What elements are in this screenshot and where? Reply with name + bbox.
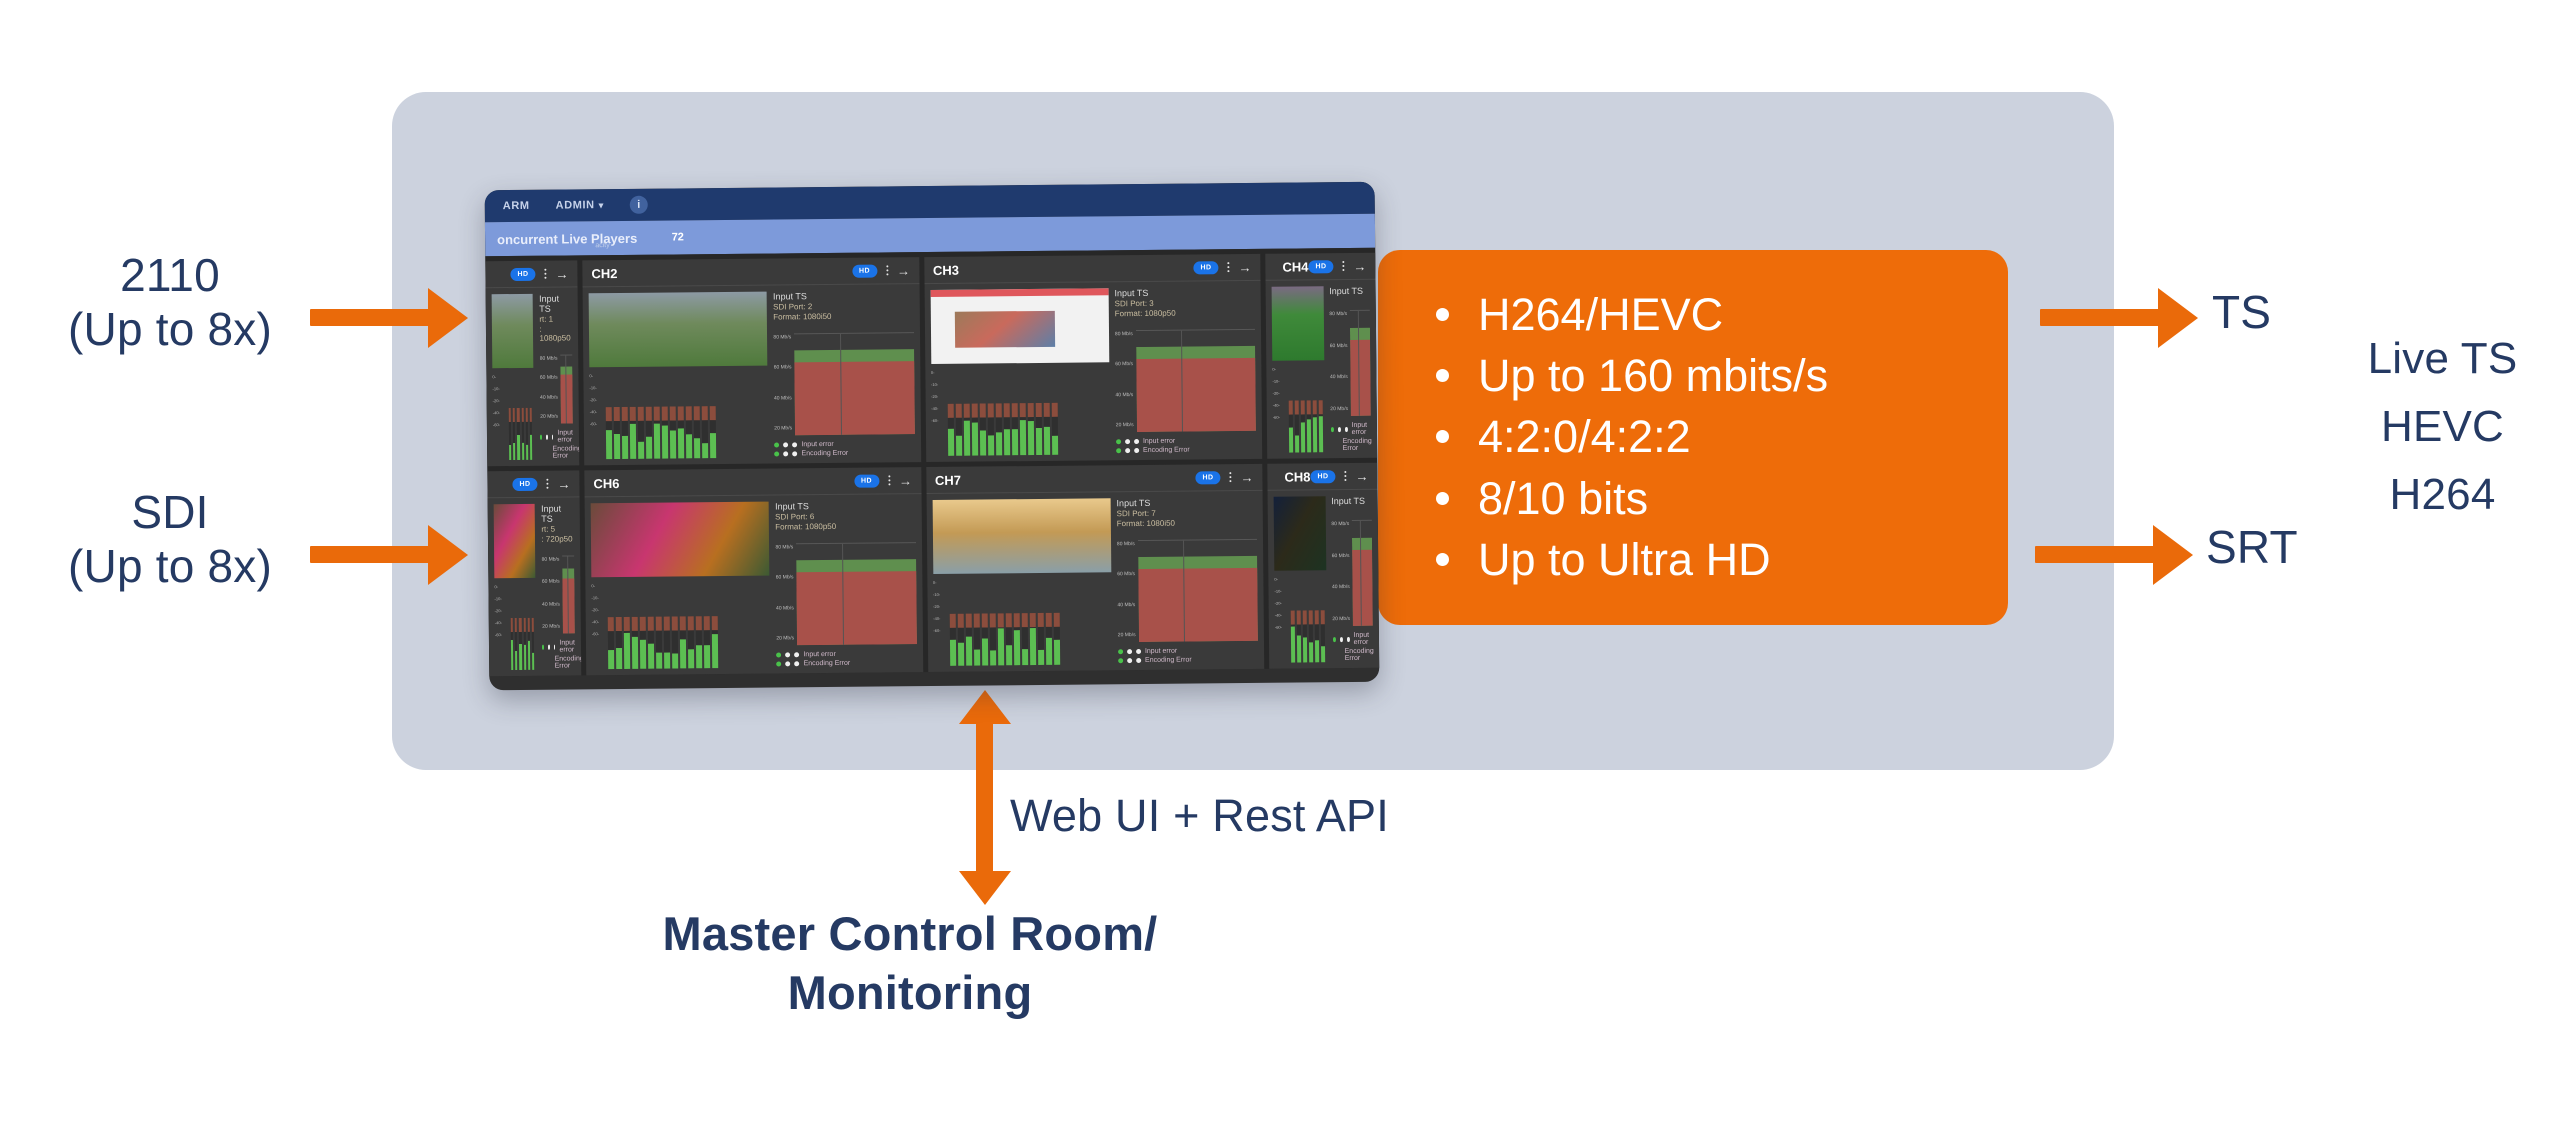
axis-tick-label: 60 Mb/s <box>1117 572 1135 577</box>
format-label: : 1080p50 <box>539 324 572 342</box>
audio-meter-bar <box>704 616 710 668</box>
bitrate-plot-area <box>562 555 575 633</box>
input-type-label: Input TS <box>1114 287 1254 298</box>
status-row: Input error <box>542 639 575 653</box>
bitrate-plot-area <box>796 542 916 645</box>
audio-meter-bar <box>688 616 694 668</box>
status-row: Encoding Error <box>1331 438 1372 452</box>
audio-meter-bar <box>670 406 676 458</box>
stats-column: Input TSrt: 1: 1080p5080 Mb/s60 Mb/s40 M… <box>539 293 573 459</box>
status-label: Encoding Error <box>1145 657 1192 664</box>
input-type-label: Input TS <box>541 503 574 523</box>
axis-tick-label: 40 Mb/s <box>1117 603 1135 608</box>
axis-tick-label: 60 Mb/s <box>776 576 794 581</box>
status-dot <box>774 442 779 447</box>
audio-scale-tick: -40- <box>931 407 938 411</box>
bitrate-chart: 80 Mb/s60 Mb/s40 Mb/s20 Mb/s <box>540 354 573 423</box>
feature-item: Up to Ultra HD <box>1432 529 1968 590</box>
bitrate-y-axis: 80 Mb/s60 Mb/s40 Mb/s20 Mb/s <box>1329 310 1348 416</box>
kebab-menu-icon[interactable] <box>546 479 548 489</box>
audio-meter-bar <box>532 618 535 670</box>
banner-count: 72 <box>672 231 684 243</box>
hd-badge[interactable]: HD <box>852 264 877 277</box>
status-dot <box>1118 649 1123 654</box>
axis-tick-label: 20 Mb/s <box>1116 423 1134 428</box>
input-label-2110-line2: (Up to 8x) <box>10 302 330 356</box>
chevron-down-icon: ▾ <box>599 200 604 210</box>
stats-column: Input TS80 Mb/s60 Mb/s40 Mb/s20 Mb/sInpu… <box>1329 286 1371 452</box>
audio-meter-bar <box>1051 403 1057 455</box>
video-thumbnail[interactable] <box>932 498 1111 574</box>
hd-badge[interactable]: HD <box>1308 260 1333 273</box>
channel-card[interactable]: HD→0--10--20--40--60-Input TSrt: 5: 720p… <box>487 470 581 676</box>
input-label-sdi-line1: SDI <box>131 486 208 538</box>
axis-tick-label: 40 Mb/s <box>1115 393 1133 398</box>
status-dot <box>1347 637 1350 642</box>
channel-card-body: 0--10--20--40--60-Input TSrt: 5: 720p508… <box>488 497 582 676</box>
audio-scale: 0--10--20--40--60- <box>931 371 939 423</box>
status-row: Input error <box>1116 437 1256 445</box>
hd-badge[interactable]: HD <box>1310 470 1335 483</box>
axis-tick-label: 60 Mb/s <box>1330 344 1348 349</box>
open-channel-arrow-icon[interactable]: → <box>1240 470 1253 483</box>
input-type-label: Input TS <box>1331 496 1372 506</box>
audio-meter-bar <box>1320 610 1324 662</box>
audio-meter-bar <box>1045 613 1051 665</box>
audio-level-meters: 0--10--20--40--60- <box>933 575 1112 666</box>
status-dot <box>1337 427 1340 432</box>
management-arrow-icon <box>955 690 1015 905</box>
audio-scale-tick: -20- <box>1275 602 1282 606</box>
channel-card[interactable]: CH2HD→0--10--20--40--60-Input TSSDI Port… <box>582 257 920 465</box>
axis-tick-label: 40 Mb/s <box>1332 585 1350 590</box>
feature-box: H264/HEVC Up to 160 mbits/s 4:2:0/4:2:2 … <box>1378 250 2008 625</box>
audio-meter-bar <box>630 407 636 459</box>
channel-card-actions: HD→ <box>1195 470 1253 484</box>
input-label-2110: 2110 (Up to 8x) <box>10 248 330 357</box>
audio-scale: 0--10--20--40--60- <box>494 585 502 637</box>
audio-meter-bar <box>1053 613 1059 665</box>
audio-meter-bar <box>606 407 612 459</box>
kebab-menu-icon[interactable] <box>1227 262 1229 272</box>
axis-tick-label: 80 Mb/s <box>1117 542 1135 547</box>
output-label-ts: TS <box>2212 285 2271 339</box>
audio-meter-bar <box>513 408 516 460</box>
kebab-menu-icon[interactable] <box>1344 471 1346 481</box>
bitrate-plot-area <box>794 332 914 435</box>
audio-meter-bar <box>664 617 670 669</box>
open-channel-arrow-icon[interactable]: → <box>557 477 570 490</box>
audio-level-meters: 0--10--20--40--60- <box>494 581 536 670</box>
audio-meter-bar <box>947 404 953 456</box>
stats-column: Input TSSDI Port: 2Format: 1080i5080 Mb/… <box>773 290 915 457</box>
audio-scale-tick: -40- <box>495 621 502 625</box>
status-label: Input error <box>1145 648 1177 655</box>
preview-column: 0--10--20--40--60- <box>589 292 769 460</box>
input-type-label: Input TS <box>775 500 915 511</box>
stream-metadata: Input TSSDI Port: 3Format: 1080p50 <box>1114 287 1254 318</box>
audio-meter-bar <box>965 614 971 666</box>
audio-meter-bar <box>957 614 963 666</box>
management-link-label: Web UI + Rest API <box>1010 790 1389 842</box>
audio-level-meters: 0--10--20--40--60- <box>591 579 770 670</box>
audio-meter-bar <box>523 618 526 670</box>
axis-tick-label: 40 Mb/s <box>1330 375 1348 380</box>
hd-badge[interactable]: HD <box>510 267 535 280</box>
channel-card[interactable]: HD→0--10--20--40--60-Input TSrt: 1: 1080… <box>485 260 579 466</box>
axis-tick-label: 20 Mb/s <box>542 625 560 630</box>
open-channel-arrow-icon[interactable]: → <box>899 474 912 487</box>
status-dot <box>540 434 542 439</box>
audio-scale-tick: 0- <box>492 375 499 379</box>
channel-card-body: 0--10--20--40--60-Input TSSDI Port: 7For… <box>926 491 1264 672</box>
input-type-label: Input TS <box>1116 497 1256 508</box>
axis-tick-label: 40 Mb/s <box>540 395 558 400</box>
audio-meter-bar <box>1003 403 1009 455</box>
audio-scale-tick: 0- <box>933 581 940 585</box>
open-channel-arrow-icon[interactable]: → <box>1238 260 1251 273</box>
axis-tick-label: 80 Mb/s <box>773 335 791 340</box>
status-label: Encoding Error <box>1345 648 1374 662</box>
audio-meter-bar <box>526 408 529 460</box>
management-endpoint-label: Master Control Room/ Monitoring <box>600 905 1220 1023</box>
axis-tick-label: 60 Mb/s <box>774 366 792 371</box>
status-dot <box>1339 637 1342 642</box>
output-summary-line-1: Live TS <box>2330 325 2555 393</box>
audio-meter-bar <box>1295 400 1299 452</box>
status-row: Encoding Error <box>1118 656 1258 664</box>
channel-title: CH7 <box>935 472 961 487</box>
audio-meter-bar <box>662 407 668 459</box>
bitrate-y-axis: 80 Mb/s60 Mb/s40 Mb/s20 Mb/s <box>1331 520 1350 626</box>
audio-scale-tick: -10- <box>1274 590 1281 594</box>
audio-scale-tick: 0- <box>1272 368 1279 372</box>
stats-column: Input TSSDI Port: 6Format: 1080p5080 Mb/… <box>775 500 917 667</box>
audio-level-meters: 0--10--20--40--60- <box>589 369 768 460</box>
bitrate-chart: 80 Mb/s60 Mb/s40 Mb/s20 Mb/s <box>1331 520 1372 626</box>
status-indicators: Input errorEncoding Error <box>540 425 573 459</box>
kebab-menu-icon[interactable] <box>886 265 888 275</box>
status-dot <box>1134 439 1139 444</box>
status-indicators: Input errorEncoding Error <box>1332 628 1373 662</box>
status-dot <box>1136 649 1141 654</box>
axis-tick-label: 80 Mb/s <box>1115 332 1133 337</box>
nav-item-alarm[interactable]: ARM <box>503 200 530 212</box>
channel-title: CH4 <box>1282 259 1308 274</box>
audio-level-meters: 0--10--20--40--60- <box>492 371 534 460</box>
audio-meter-bar <box>694 406 700 458</box>
channel-card[interactable]: CH3HD→0--10--20--40--60-Input TSSDI Port… <box>924 254 1262 462</box>
audio-meter-bar <box>1021 613 1027 665</box>
audio-meter-bar <box>616 617 622 669</box>
bitrate-plot-area <box>1352 520 1373 626</box>
encoder-app-screenshot: ARM ADMIN▾ i oncurrent Live Players acit… <box>485 182 1380 691</box>
bitrate-y-axis: 80 Mb/s60 Mb/s40 Mb/s20 Mb/s <box>1115 330 1134 432</box>
feature-list: H264/HEVC Up to 160 mbits/s 4:2:0/4:2:2 … <box>1432 284 1968 590</box>
status-row: Input error <box>776 650 916 658</box>
hd-badge[interactable]: HD <box>512 477 537 490</box>
audio-scale-tick: 0- <box>494 585 501 589</box>
audio-scale-tick: 0- <box>1274 578 1281 582</box>
status-indicators: Input errorEncoding Error <box>1118 643 1258 664</box>
channel-card[interactable]: CH8HD→0--10--20--40--60-Input TS80 Mb/s6… <box>1267 463 1379 669</box>
video-thumbnail[interactable] <box>1274 496 1326 570</box>
axis-tick-label: 20 Mb/s <box>1332 617 1350 622</box>
audio-level-meters: 0--10--20--40--60- <box>931 365 1110 456</box>
channel-card-actions: HD→ <box>852 264 910 278</box>
axis-tick-label: 20 Mb/s <box>1118 633 1136 638</box>
audio-meter-bar <box>971 404 977 456</box>
channel-card[interactable]: CH4HD→0--10--20--40--60-Input TS80 Mb/s6… <box>1265 253 1377 459</box>
open-channel-arrow-icon[interactable]: → <box>897 264 910 277</box>
sdi-port-label: SDI Port: 6 <box>775 511 915 521</box>
audio-level-meters: 0--10--20--40--60- <box>1274 573 1326 662</box>
info-icon[interactable]: i <box>630 196 648 214</box>
audio-meter-bar <box>710 406 716 458</box>
audio-scale-tick: -40- <box>493 411 500 415</box>
status-dot <box>552 434 554 439</box>
input-label-2110-line1: 2110 <box>120 249 220 301</box>
management-endpoint-line2: Monitoring <box>600 964 1220 1023</box>
channel-card-body: 0--10--20--40--60-Input TS80 Mb/s60 Mb/s… <box>1266 280 1378 459</box>
feature-item: 4:2:0/4:2:2 <box>1432 406 1968 467</box>
channel-card-actions: HD→ <box>1193 260 1251 274</box>
feature-item: H264/HEVC <box>1432 284 1968 345</box>
audio-meter-bar <box>646 407 652 459</box>
audio-scale: 0--10--20--40--60- <box>492 375 500 427</box>
audio-meter-bar <box>686 406 692 458</box>
audio-scale-tick: 0- <box>931 371 938 375</box>
audio-scale-tick: -40- <box>590 410 597 414</box>
audio-scale: 0--10--20--40--60- <box>591 584 599 636</box>
channel-card-body: 0--10--20--40--60-Input TS80 Mb/s60 Mb/s… <box>1268 490 1380 669</box>
status-label: Input error <box>803 651 835 658</box>
input-label-sdi: SDI (Up to 8x) <box>10 485 330 594</box>
stats-column: Input TSrt: 5: 720p5080 Mb/s60 Mb/s40 Mb… <box>541 503 575 669</box>
audio-scale-tick: -20- <box>590 398 597 402</box>
preview-column: 0--10--20--40--60- <box>932 498 1112 666</box>
status-dot <box>1344 427 1347 432</box>
audio-scale-tick: 0- <box>589 374 596 378</box>
status-row: Input error <box>1330 422 1371 436</box>
axis-tick-label: 80 Mb/s <box>540 357 558 362</box>
status-row: Encoding Error <box>1333 648 1374 662</box>
axis-tick-label: 40 Mb/s <box>774 396 792 401</box>
audio-scale-tick: -60- <box>495 633 502 637</box>
status-dot <box>1118 658 1123 663</box>
channel-card-actions: HD→ <box>512 477 570 491</box>
axis-tick-label: 60 Mb/s <box>1115 362 1133 367</box>
video-thumbnail[interactable] <box>494 504 536 578</box>
audio-meter-bar <box>949 614 955 666</box>
hd-badge[interactable]: HD <box>854 474 879 487</box>
audio-level-meters: 0--10--20--40--60- <box>1272 363 1324 452</box>
status-label: Encoding Error <box>1343 438 1372 452</box>
status-dot <box>1332 637 1335 642</box>
audio-meter-bar <box>638 407 644 459</box>
channel-card-actions: HD→ <box>510 267 568 281</box>
video-thumbnail[interactable] <box>1272 286 1324 360</box>
axis-tick-label: 40 Mb/s <box>542 602 560 607</box>
axis-tick-label: 40 Mb/s <box>776 606 794 611</box>
hd-badge[interactable]: HD <box>1195 471 1220 484</box>
channel-card-actions: HD→ <box>854 474 912 488</box>
status-dot <box>1125 448 1130 453</box>
channel-card-body: 0--10--20--40--60-Input TSSDI Port: 3For… <box>924 281 1262 462</box>
status-row: Input error <box>1118 647 1258 655</box>
audio-meter-bar <box>702 406 708 458</box>
channel-card-actions: HD→ <box>1308 259 1366 273</box>
audio-meter-bar <box>712 616 718 668</box>
preview-column: 0--10--20--40--60- <box>492 294 535 460</box>
audio-scale-tick: -10- <box>933 593 940 597</box>
audio-scale-tick: -40- <box>1275 614 1282 618</box>
audio-meter-bar <box>672 616 678 668</box>
channel-title: CH6 <box>593 476 619 491</box>
status-dot <box>554 644 556 649</box>
audio-scale-tick: 0- <box>591 584 598 588</box>
bitrate-chart: 80 Mb/s60 Mb/s40 Mb/s20 Mb/s <box>1329 310 1370 416</box>
audio-meter-bar <box>1019 403 1025 455</box>
sdi-port-label: rt: 5 <box>541 524 574 533</box>
status-label: Input error <box>1143 438 1175 445</box>
status-label: Input error <box>1353 632 1373 646</box>
audio-scale-tick: -20- <box>1273 392 1280 396</box>
output-summary-line-2: HEVC <box>2330 393 2555 461</box>
preview-column: 0--10--20--40--60- <box>930 288 1110 456</box>
status-dot <box>776 652 781 657</box>
hd-badge[interactable]: HD <box>1193 261 1218 274</box>
input-arrow-sdi-icon <box>310 525 470 585</box>
audio-scale-tick: -60- <box>590 422 597 426</box>
audio-meter-bar <box>997 613 1003 665</box>
status-row: Input error <box>1332 632 1373 646</box>
audio-meter-bar <box>1303 610 1307 662</box>
audio-meter-bar <box>1306 400 1310 452</box>
banner-title: oncurrent Live Players <box>497 230 637 246</box>
video-thumbnail[interactable] <box>492 294 534 368</box>
status-dot <box>1116 448 1121 453</box>
status-label: Input error <box>1351 422 1371 436</box>
axis-tick-label: 60 Mb/s <box>542 580 560 585</box>
preview-column: 0--10--20--40--60- <box>591 502 771 670</box>
channel-title: CH2 <box>591 266 617 281</box>
channel-card-header: HD→ <box>485 260 577 288</box>
channel-card-header: CH2HD→ <box>582 257 919 287</box>
status-dot <box>1134 448 1139 453</box>
nav-item-admin[interactable]: ADMIN▾ <box>556 199 604 211</box>
channel-card-body: 0--10--20--40--60-Input TSrt: 1: 1080p50… <box>486 287 580 466</box>
audio-meter-bar <box>680 616 686 668</box>
audio-scale-tick: -10- <box>590 386 597 390</box>
audio-meter-bar <box>1297 610 1301 662</box>
stats-column: Input TSSDI Port: 3Format: 1080p5080 Mb/… <box>1114 287 1256 454</box>
channel-grid: HD→0--10--20--40--60-Input TSrt: 1: 1080… <box>485 248 1379 677</box>
sdi-port-label: rt: 1 <box>539 314 572 323</box>
format-label: Format: 1080i50 <box>1117 518 1257 528</box>
bitrate-plot-area <box>1136 329 1256 432</box>
audio-meter-bar <box>955 404 961 456</box>
preview-column: 0--10--20--40--60- <box>494 504 537 670</box>
video-thumbnail[interactable] <box>930 288 1109 364</box>
status-row: Input error <box>540 429 573 443</box>
open-channel-arrow-icon[interactable]: → <box>1353 259 1366 272</box>
audio-scale-tick: -10- <box>931 383 938 387</box>
video-thumbnail[interactable] <box>589 292 768 368</box>
feature-item: 8/10 bits <box>1432 468 1968 529</box>
bitrate-y-axis: 80 Mb/s60 Mb/s40 Mb/s20 Mb/s <box>540 355 558 424</box>
audio-meter-bar <box>1011 403 1017 455</box>
status-dot <box>1127 658 1132 663</box>
audio-meter-bar <box>1289 401 1293 453</box>
audio-meter-bar <box>622 407 628 459</box>
audio-meter-bar <box>696 616 702 668</box>
audio-meter-bar <box>979 403 985 455</box>
status-label: Encoding Error <box>802 450 849 457</box>
channel-card-header: CH8HD→ <box>1267 463 1377 491</box>
audio-meter-bar <box>509 408 512 460</box>
axis-tick-label: 80 Mb/s <box>1331 522 1349 527</box>
channel-card[interactable]: CH6HD→0--10--20--40--60-Input TSSDI Port… <box>584 467 922 675</box>
audio-scale-tick: -10- <box>592 596 599 600</box>
nav-item-admin-label: ADMIN <box>556 199 595 211</box>
audio-meter-bar <box>981 613 987 665</box>
kebab-menu-icon[interactable] <box>1229 472 1231 482</box>
status-row: Encoding Error <box>543 655 576 669</box>
status-dot <box>784 451 789 456</box>
kebab-menu-icon[interactable] <box>1342 261 1344 271</box>
stream-metadata: Input TS <box>1331 496 1372 508</box>
audio-scale-tick: -60- <box>592 632 599 636</box>
stream-metadata: Input TS <box>1329 286 1370 298</box>
audio-meter-bar <box>1037 613 1043 665</box>
axis-tick-label: 20 Mb/s <box>776 636 794 641</box>
audio-meter-bar <box>1312 400 1316 452</box>
stream-metadata: Input TSSDI Port: 2Format: 1080i50 <box>773 290 913 321</box>
audio-meter-bar <box>517 408 520 460</box>
stats-column: Input TS80 Mb/s60 Mb/s40 Mb/s20 Mb/sInpu… <box>1331 496 1373 662</box>
channel-card[interactable]: CH7HD→0--10--20--40--60-Input TSSDI Port… <box>926 464 1264 672</box>
status-indicators: Input errorEncoding Error <box>776 646 916 667</box>
status-dot <box>794 652 799 657</box>
video-thumbnail[interactable] <box>591 502 770 578</box>
kebab-menu-icon[interactable] <box>544 269 546 279</box>
channel-title: CH8 <box>1284 469 1310 484</box>
channel-card-body: 0--10--20--40--60-Input TSSDI Port: 6For… <box>585 494 923 675</box>
kebab-menu-icon[interactable] <box>888 475 890 485</box>
bitrate-y-axis: 80 Mb/s60 Mb/s40 Mb/s20 Mb/s <box>775 543 794 645</box>
status-dot <box>783 442 788 447</box>
status-dot <box>1125 439 1130 444</box>
status-dot <box>1116 439 1121 444</box>
audio-meter-bar <box>528 618 531 670</box>
channel-card-header: CH3HD→ <box>924 254 1261 284</box>
open-channel-arrow-icon[interactable]: → <box>1355 469 1368 482</box>
audio-meter-bar <box>1035 403 1041 455</box>
banner-subtitle: acity <box>595 242 609 249</box>
open-channel-arrow-icon[interactable]: → <box>555 267 568 280</box>
axis-tick-label: 80 Mb/s <box>1329 312 1347 317</box>
channel-card-actions: HD→ <box>1310 469 1368 483</box>
bitrate-chart: 80 Mb/s60 Mb/s40 Mb/s20 Mb/s <box>773 332 914 435</box>
sdi-port-label: SDI Port: 7 <box>1117 508 1257 518</box>
axis-tick-label: 60 Mb/s <box>1332 554 1350 559</box>
preview-column: 0--10--20--40--60- <box>1272 286 1325 452</box>
audio-scale-tick: -20- <box>933 605 940 609</box>
stream-metadata: Input TSrt: 1: 1080p50 <box>539 293 572 342</box>
audio-scale-tick: -20- <box>931 395 938 399</box>
audio-meter-bar <box>632 617 638 669</box>
